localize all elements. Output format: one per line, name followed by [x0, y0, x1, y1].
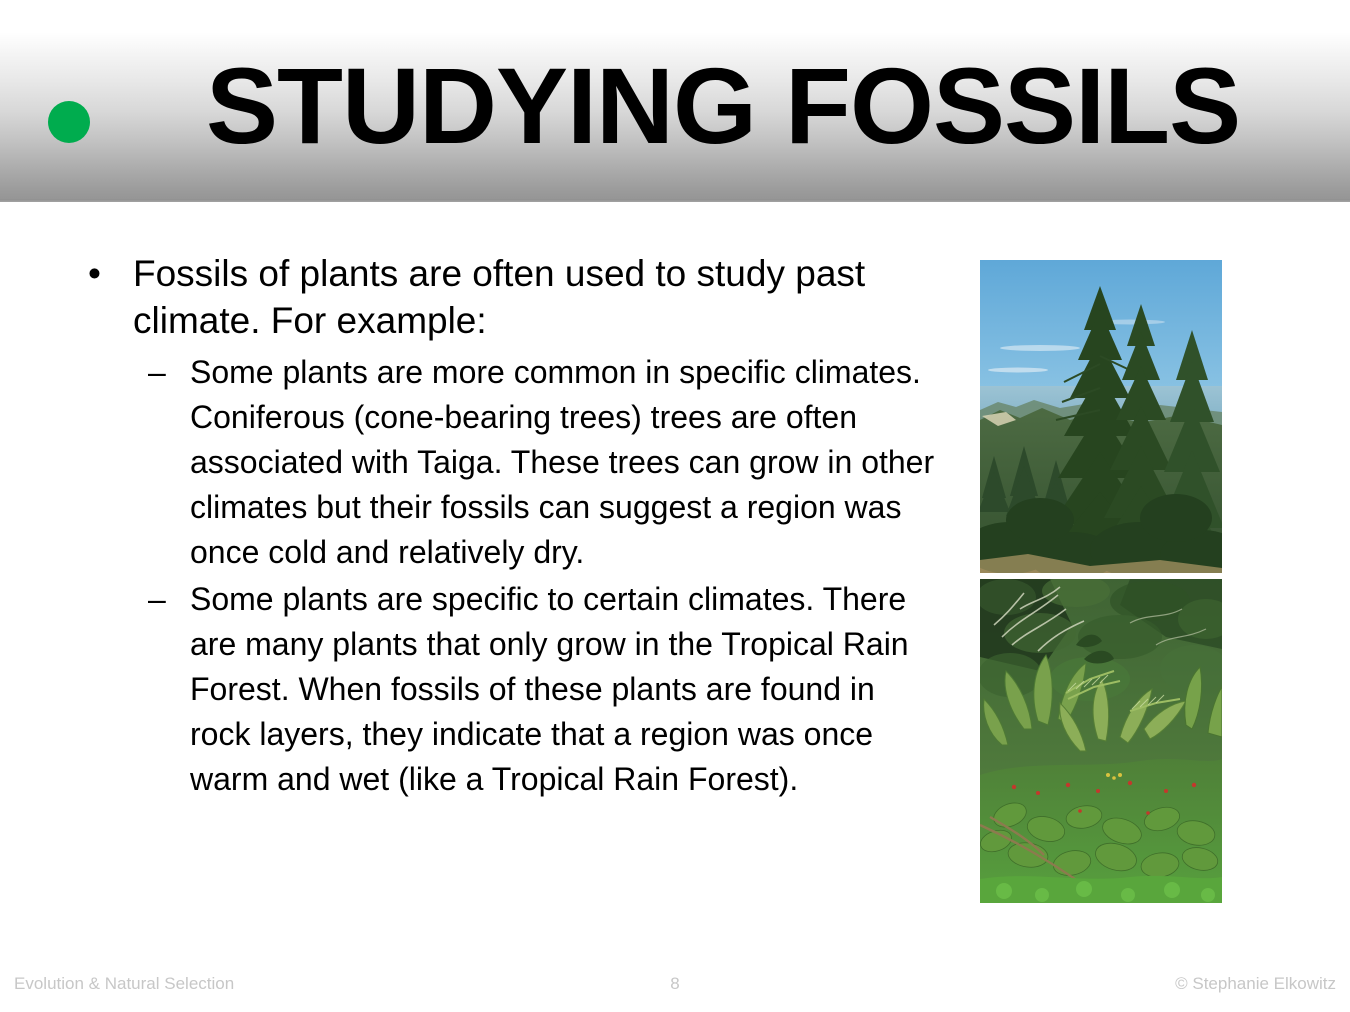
sub-bullet-list: – Some plants are more common in specifi… [80, 350, 940, 802]
bullet-level2: – Some plants are more common in specifi… [148, 350, 940, 575]
bullet-level1-text: Fossils of plants are often used to stud… [133, 253, 865, 341]
bullet-marker-icon: • [88, 250, 101, 297]
page-title: STUDYING FOSSILS [206, 48, 1206, 164]
bullet-level2: – Some plants are specific to certain cl… [148, 577, 940, 802]
tropical-rainforest-photo [980, 579, 1222, 903]
slide: STUDYING FOSSILS • Fossils of plants are… [0, 0, 1350, 1012]
bullet-level1: • Fossils of plants are often used to st… [80, 250, 940, 344]
slide-page-number: 8 [0, 974, 1350, 994]
slide-title-band: STUDYING FOSSILS [0, 0, 1350, 202]
slide-footer: Evolution & Natural Selection 8 © Stepha… [0, 962, 1350, 1012]
bullet-level2-text: Some plants are more common in specific … [190, 354, 934, 570]
footer-copyright: © Stephanie Elkowitz [1175, 974, 1336, 994]
content-column: • Fossils of plants are often used to st… [80, 250, 940, 804]
tropical-rainforest-illustration [980, 579, 1222, 903]
coniferous-forest-photo [980, 260, 1222, 573]
dash-marker-icon: – [148, 350, 166, 395]
bullet-level2-text: Some plants are specific to certain clim… [190, 581, 909, 797]
green-circle-bullet-icon [48, 101, 90, 143]
dash-marker-icon: – [148, 577, 166, 622]
coniferous-forest-illustration [980, 260, 1222, 573]
